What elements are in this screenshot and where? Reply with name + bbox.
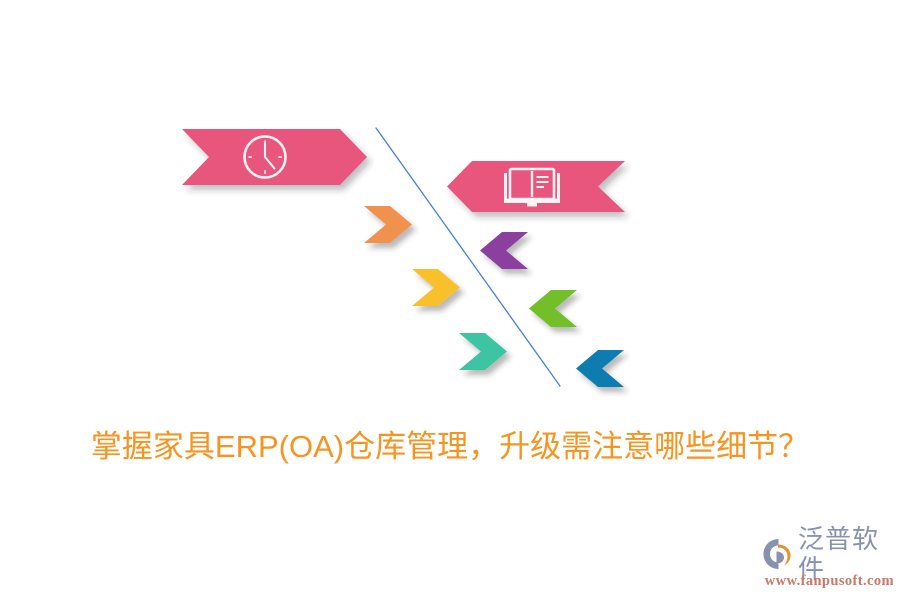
chevron-blue[interactable] <box>576 350 624 387</box>
chevron-green[interactable] <box>529 290 577 327</box>
chevron-orange[interactable] <box>364 206 412 243</box>
brand-url: www.fanpusoft.com <box>762 573 894 590</box>
clock-icon <box>245 137 286 178</box>
chevron-yellow[interactable] <box>412 269 460 306</box>
chevron-purple[interactable] <box>480 232 528 269</box>
chevron-teal[interactable] <box>459 333 507 370</box>
poster-canvas: 掌握家具ERP(OA)仓库管理，升级需注意哪些细节？ 泛普软件 www.fanp… <box>0 0 900 600</box>
fanpu-logo-mark-icon <box>762 538 796 570</box>
page-title: 掌握家具ERP(OA)仓库管理，升级需注意哪些细节？ <box>0 424 900 470</box>
graphic-illustration <box>0 0 900 410</box>
brand-logo[interactable]: 泛普软件 www.fanpusoft.com <box>762 536 894 594</box>
